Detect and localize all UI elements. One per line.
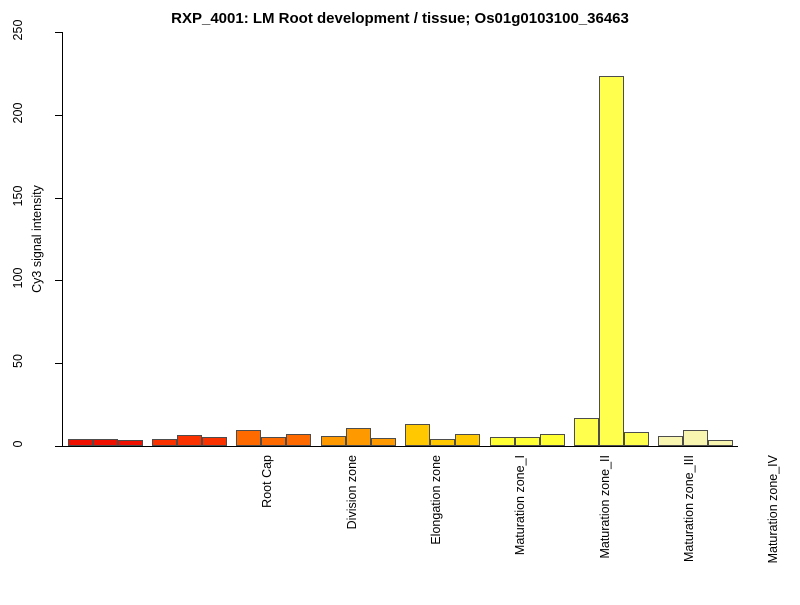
bar bbox=[202, 437, 227, 446]
bar bbox=[236, 430, 261, 446]
bar bbox=[152, 439, 177, 446]
bar bbox=[405, 424, 430, 446]
bar bbox=[540, 434, 565, 446]
bar bbox=[574, 418, 599, 446]
bar bbox=[371, 438, 396, 446]
bar bbox=[286, 434, 311, 446]
bar bbox=[455, 434, 480, 446]
x-label-maturation-zone-ii: Maturation zone_II bbox=[598, 455, 612, 605]
bar bbox=[490, 437, 515, 446]
bar bbox=[118, 440, 143, 446]
bar bbox=[68, 439, 93, 446]
x-label-root-cap: Root Cap bbox=[260, 455, 274, 605]
bars-layer bbox=[0, 0, 800, 447]
x-label-maturation-zone-iii: Maturation zone_III bbox=[682, 455, 696, 605]
bar bbox=[515, 437, 540, 446]
bar bbox=[708, 440, 733, 446]
x-label-elongation-zone: Elongation zone bbox=[429, 455, 443, 605]
bar bbox=[599, 76, 624, 446]
bar bbox=[177, 435, 202, 446]
bar bbox=[321, 436, 346, 446]
x-label-maturation-zone-i: Maturation zone_I bbox=[513, 455, 527, 605]
bar bbox=[683, 430, 708, 446]
bar bbox=[346, 428, 371, 446]
bar bbox=[624, 432, 649, 446]
bar bbox=[93, 439, 118, 446]
bar bbox=[430, 439, 455, 446]
bar bbox=[261, 437, 286, 446]
bar bbox=[658, 436, 683, 446]
chart-figure: RXP_4001: LM Root development / tissue; … bbox=[0, 0, 800, 600]
x-label-maturation-zone-iv: Maturation zone_IV bbox=[766, 455, 780, 605]
x-label-division-zone: Division zone bbox=[345, 455, 359, 605]
